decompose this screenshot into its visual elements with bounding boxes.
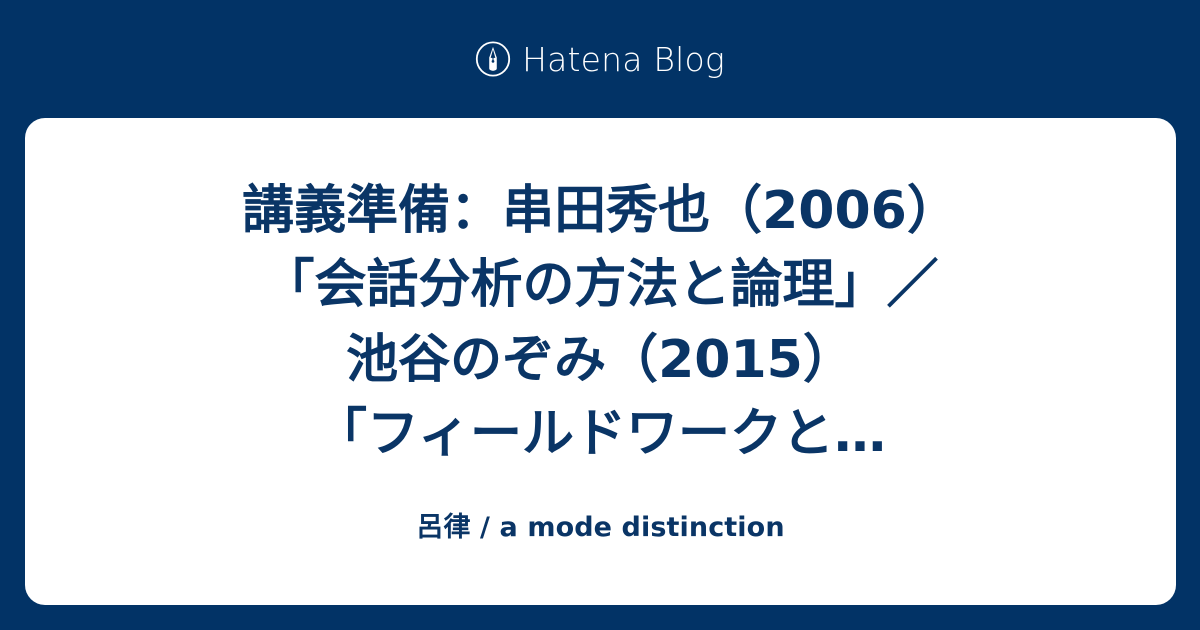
entry-title-line: 「会話分析の方法と論理」／ [96,248,1106,322]
brand-name: Hatena Blog [522,43,725,76]
blog-name: 呂律 / a mode distinction [25,512,1176,544]
entry-title-line: 講義準備：串田秀也（2006） [96,174,1106,248]
og-image-root: Hatena Blog 講義準備：串田秀也（2006） 「会話分析の方法と論理」… [0,0,1200,630]
entry-title-line: 池谷のぞみ（2015） [96,323,1106,397]
brand-header: Hatena Blog [0,0,1200,118]
entry-card: 講義準備：串田秀也（2006） 「会話分析の方法と論理」／ 池谷のぞみ（2015… [25,118,1176,605]
entry-title-line: 「フィールドワークと… [96,397,1106,471]
entry-title: 講義準備：串田秀也（2006） 「会話分析の方法と論理」／ 池谷のぞみ（2015… [96,118,1106,471]
hatena-pen-nib-icon [475,41,511,77]
